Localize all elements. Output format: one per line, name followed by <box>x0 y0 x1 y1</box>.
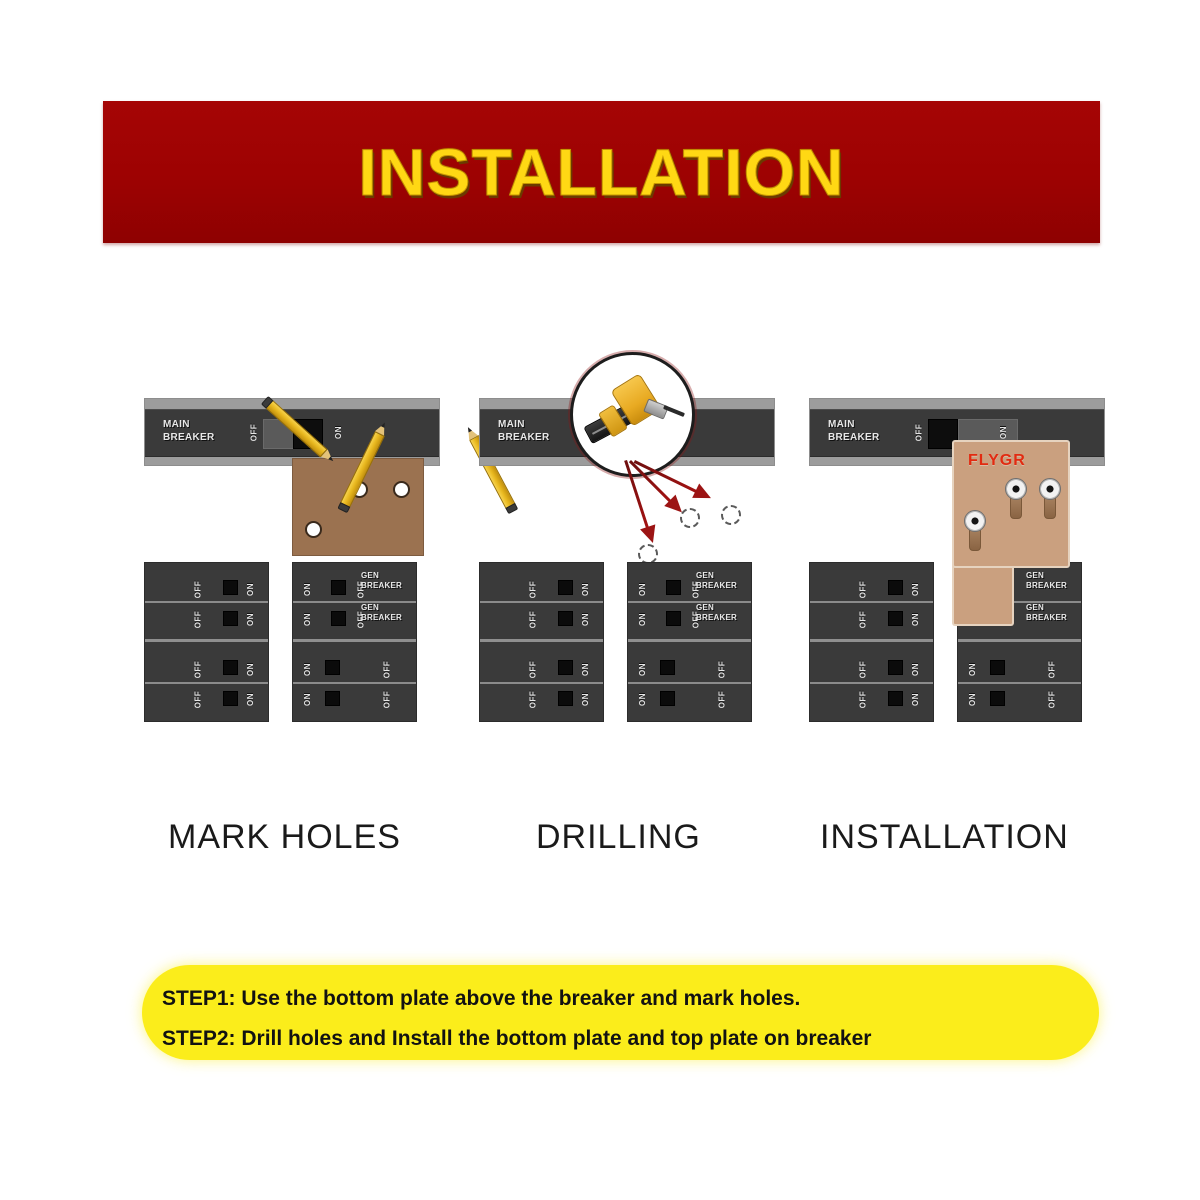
gen-label-line2: BREAKER <box>1026 581 1067 590</box>
breaker-on-label: ON <box>246 613 255 626</box>
gen-breaker-label: GEN BREAKER <box>1026 571 1067 591</box>
gen-label-line2: BREAKER <box>361 613 402 622</box>
installed-plate-foot <box>952 562 1014 626</box>
breaker-on-label: ON <box>911 583 920 596</box>
breaker-half <box>810 563 933 642</box>
breaker-on-label: ON <box>246 693 255 706</box>
main-on-label: ON <box>334 426 343 439</box>
breaker-on-label: ON <box>581 663 590 676</box>
main-breaker-label-line1: MAIN <box>828 419 855 430</box>
breaker-off-label: OFF <box>193 611 202 629</box>
breaker-on-label: ON <box>246 583 255 596</box>
dashed-hole-marker <box>680 508 700 528</box>
breaker-switch[interactable] <box>223 580 238 595</box>
breaker-on-label: ON <box>246 663 255 676</box>
breaker-switch[interactable] <box>990 660 1005 675</box>
breaker-half <box>145 563 268 642</box>
gen-label-line1: GEN <box>361 571 379 580</box>
caption-installation: INSTALLATION <box>820 818 1069 857</box>
breaker-block-right: ON ON OFF OFF GEN BREAKER GEN BREAKER ON… <box>292 562 417 722</box>
breaker-half <box>480 642 603 721</box>
breaker-switch[interactable] <box>558 580 573 595</box>
breaker-off-label: OFF <box>528 611 537 629</box>
main-on-label: ON <box>999 426 1008 439</box>
panel-mark-holes: MAIN BREAKER OFF ON <box>140 340 480 760</box>
breaker-off-label: OFF <box>717 691 726 709</box>
breaker-half <box>958 642 1081 721</box>
breaker-switch[interactable] <box>331 580 346 595</box>
breaker-on-label: ON <box>638 583 647 596</box>
breaker-on-label: ON <box>303 583 312 596</box>
breaker-off-label: OFF <box>858 661 867 679</box>
gen-breaker-label: GEN BREAKER <box>1026 603 1067 623</box>
breaker-off-label: OFF <box>528 581 537 599</box>
panel-drilling: MAIN BREAKER OFF ON <box>475 340 815 760</box>
breaker-off-label: OFF <box>382 661 391 679</box>
gen-label-line1: GEN <box>696 571 714 580</box>
caption-mark-holes: MARK HOLES <box>168 818 401 857</box>
breaker-switch[interactable] <box>558 691 573 706</box>
main-breaker-label: MAIN BREAKER <box>828 418 880 444</box>
breaker-on-label: ON <box>968 663 977 676</box>
gen-breaker-label: GEN BREAKER <box>361 571 402 591</box>
breaker-switch[interactable] <box>888 660 903 675</box>
breaker-block-left: OFF OFF ON ON OFF OFF ON ON <box>809 562 934 722</box>
breaker-off-label: OFF <box>528 661 537 679</box>
breaker-switch[interactable] <box>888 691 903 706</box>
breaker-switch[interactable] <box>666 580 681 595</box>
breaker-off-label: OFF <box>858 611 867 629</box>
drill-magnifier <box>570 352 695 477</box>
breaker-switch[interactable] <box>223 660 238 675</box>
breaker-on-label: ON <box>638 693 647 706</box>
breaker-off-label: OFF <box>528 691 537 709</box>
breaker-off-label: OFF <box>717 661 726 679</box>
hole-marker <box>305 521 322 538</box>
dashed-hole-marker <box>721 505 741 525</box>
installation-diagram: MAIN BREAKER OFF ON <box>0 340 1200 760</box>
breaker-switch[interactable] <box>660 691 675 706</box>
breaker-switch[interactable] <box>558 611 573 626</box>
breaker-half <box>293 642 416 721</box>
gen-label-line1: GEN <box>1026 603 1044 612</box>
breaker-on-label: ON <box>303 613 312 626</box>
breaker-off-label: OFF <box>193 581 202 599</box>
breaker-block-left: OFF OFF ON ON OFF OFF ON ON <box>144 562 269 722</box>
panel-installation: MAIN BREAKER OFF ON OFF OFF ON ON OFF OF… <box>805 340 1145 760</box>
breaker-block-left: OFF OFF ON ON OFF OFF ON ON <box>479 562 604 722</box>
breaker-switch[interactable] <box>558 660 573 675</box>
breaker-switch[interactable] <box>325 691 340 706</box>
breaker-half <box>480 563 603 642</box>
breaker-on-label: ON <box>911 663 920 676</box>
breaker-on-label: ON <box>581 583 590 596</box>
dashed-hole-marker <box>638 544 658 564</box>
breaker-half <box>145 642 268 721</box>
gen-label-line1: GEN <box>1026 571 1044 580</box>
gen-label-line1: GEN <box>696 603 714 612</box>
breaker-switch[interactable] <box>660 660 675 675</box>
breaker-on-label: ON <box>638 613 647 626</box>
hole-marker <box>393 481 410 498</box>
breaker-on-label: ON <box>638 663 647 676</box>
header-banner: INSTALLATION <box>103 101 1100 243</box>
gen-breaker-label: GEN BREAKER <box>361 603 402 623</box>
breaker-off-label: OFF <box>193 661 202 679</box>
breaker-switch[interactable] <box>223 691 238 706</box>
breaker-half <box>810 642 933 721</box>
breaker-on-label: ON <box>911 613 920 626</box>
step-2-text: STEP2: Drill holes and Install the botto… <box>162 1027 871 1051</box>
main-breaker-label-line1: MAIN <box>498 419 525 430</box>
breaker-switch[interactable] <box>990 691 1005 706</box>
step-1-text: STEP1: Use the bottom plate above the br… <box>162 987 800 1011</box>
main-off-label: OFF <box>249 424 258 442</box>
main-breaker-label: MAIN BREAKER <box>498 418 550 444</box>
breaker-switch[interactable] <box>888 580 903 595</box>
breaker-on-label: ON <box>303 693 312 706</box>
breaker-on-label: ON <box>303 663 312 676</box>
main-breaker-face: MAIN BREAKER OFF ON <box>145 409 439 457</box>
installed-plate[interactable]: FLYGR <box>952 440 1070 568</box>
breaker-switch[interactable] <box>223 611 238 626</box>
brand-logo: FLYGR <box>968 452 1026 470</box>
main-breaker-label-line2: BREAKER <box>163 432 215 443</box>
breaker-switch[interactable] <box>325 660 340 675</box>
breaker-off-label: OFF <box>1047 691 1056 709</box>
gen-label-line2: BREAKER <box>361 581 402 590</box>
breaker-switch[interactable] <box>331 611 346 626</box>
breaker-on-label: ON <box>581 693 590 706</box>
breaker-off-label: OFF <box>382 691 391 709</box>
breaker-half <box>628 642 751 721</box>
page-title: INSTALLATION <box>358 134 844 210</box>
breaker-off-label: OFF <box>193 691 202 709</box>
breaker-on-label: ON <box>581 613 590 626</box>
steps-banner: STEP1: Use the bottom plate above the br… <box>142 965 1099 1060</box>
gen-breaker-label: GEN BREAKER <box>696 571 737 591</box>
gen-label-line2: BREAKER <box>696 613 737 622</box>
main-off-label: OFF <box>914 424 923 442</box>
gen-label-line1: GEN <box>361 603 379 612</box>
breaker-on-label: ON <box>968 693 977 706</box>
main-breaker-label: MAIN BREAKER <box>163 418 215 444</box>
gen-label-line2: BREAKER <box>696 581 737 590</box>
main-breaker-label-line1: MAIN <box>163 419 190 430</box>
breaker-off-label: OFF <box>1047 661 1056 679</box>
main-breaker-label-line2: BREAKER <box>828 432 880 443</box>
gen-breaker-label: GEN BREAKER <box>696 603 737 623</box>
breaker-switch[interactable] <box>888 611 903 626</box>
caption-drilling: DRILLING <box>536 818 701 857</box>
main-breaker-label-line2: BREAKER <box>498 432 550 443</box>
breaker-off-label: OFF <box>858 691 867 709</box>
breaker-on-label: ON <box>911 693 920 706</box>
breaker-switch[interactable] <box>666 611 681 626</box>
gen-label-line2: BREAKER <box>1026 613 1067 622</box>
breaker-off-label: OFF <box>858 581 867 599</box>
breaker-block-right: ON ON OFF OFF GEN BREAKER GEN BREAKER ON… <box>627 562 752 722</box>
